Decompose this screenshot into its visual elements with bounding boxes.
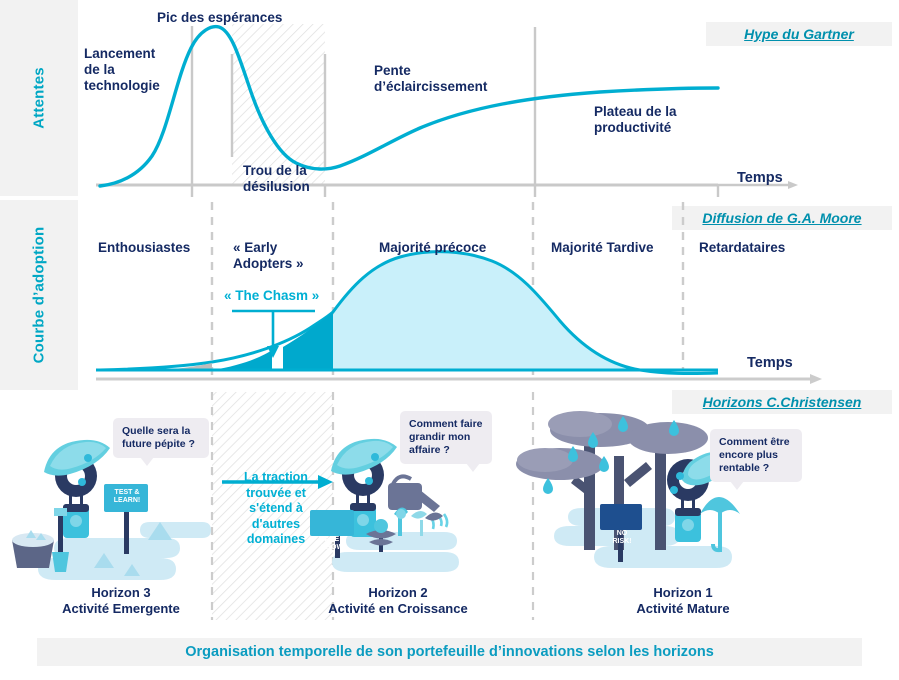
hype-axis-temps-label: Temps — [737, 170, 783, 186]
caption-horizon-3: Horizon 3 Activité Emergente — [36, 585, 206, 617]
adoption-segment-majorite-tardive: Majorité Tardive — [551, 240, 654, 256]
caption-horizon-2: Horizon 2 Activité en Croissance — [308, 585, 488, 617]
bubble-horizon-2: Comment faire grandir mon affaire ? — [400, 411, 492, 464]
adoption-segment-enthousiastes: Enthousiastes — [98, 240, 190, 256]
bubble-horizon-3: Quelle sera la future pépite ? — [113, 418, 209, 458]
early-adopter-block-right — [283, 312, 333, 370]
trough-hatch-band — [232, 24, 325, 184]
adoption-bell-area — [333, 253, 700, 374]
adoption-segment-retardataires: Retardataires — [699, 240, 785, 256]
caption-horizon-1: Horizon 1 Activité Mature — [600, 585, 766, 617]
sign-label-horizon-1: NO RISK! — [601, 530, 643, 546]
hype-launch-label: Lancement de la technologie — [84, 46, 160, 94]
adoption-axis-arrowhead — [810, 374, 822, 384]
traction-label: La traction trouvée et s'étend à d'autre… — [236, 470, 316, 548]
hype-axis-arrowhead — [788, 181, 798, 189]
footer-title: Organisation temporelle de son portefeui… — [37, 638, 862, 666]
chasm-label: « The Chasm » — [224, 288, 319, 304]
hype-plateau-label: Plateau de la productivité — [594, 104, 677, 136]
illustration-horizon-3 — [12, 440, 211, 580]
hype-slope-label: Pente d’éclaircissement — [374, 63, 487, 95]
sign-label-horizon-2: MAKE IT GROW! — [311, 536, 355, 552]
hype-trough-label: Trou de la désilusion — [243, 163, 310, 195]
adoption-axis-temps-label: Temps — [747, 355, 793, 371]
hype-peak-label: Pic des espérances — [157, 10, 282, 26]
adoption-segment-early-adopters: « Early Adopters » — [233, 240, 304, 272]
bubble-horizon-1: Comment être encore plus rentable ? — [710, 429, 802, 482]
adoption-segment-majorite-precoce: Majorité précoce — [379, 240, 486, 256]
sign-label-horizon-3: TEST & LEARN! — [105, 489, 149, 505]
